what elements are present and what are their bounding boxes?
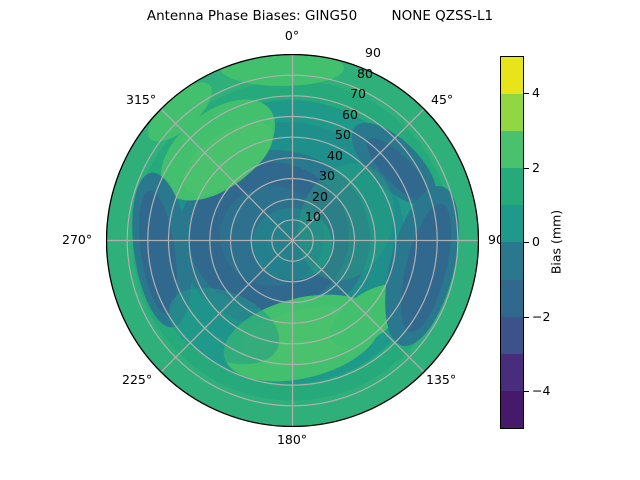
colorbar-ticklabel-0: 0 bbox=[532, 236, 540, 249]
azimuth-label-135: 135° bbox=[426, 374, 456, 387]
colorbar-tick-0 bbox=[524, 242, 529, 243]
radial-label-70: 70 bbox=[350, 88, 366, 101]
colorbar-ticklabel--2: −2 bbox=[532, 311, 550, 324]
colorbar-segment-5 bbox=[501, 57, 523, 94]
colorbar-segment--4 bbox=[501, 391, 523, 428]
azimuth-label-225: 225° bbox=[122, 374, 152, 387]
azimuth-label-315: 315° bbox=[126, 94, 156, 107]
colorbar-tick--2 bbox=[524, 317, 529, 318]
figure-canvas: Antenna Phase Biases: GING50 NONE QZSS-L… bbox=[0, 0, 640, 480]
azimuth-label-45: 45° bbox=[431, 94, 453, 107]
polar-axes: 0° 45° 90 135° 180° 225° 270° 315° 10 20… bbox=[106, 54, 479, 427]
radial-label-30: 30 bbox=[319, 170, 335, 183]
colorbar-ticklabel--4: −4 bbox=[532, 385, 550, 398]
radial-label-20: 20 bbox=[312, 191, 328, 204]
colorbar-segment--1 bbox=[501, 280, 523, 317]
azimuth-label-0: 0° bbox=[285, 30, 299, 43]
colorbar-segment--2 bbox=[501, 317, 523, 354]
colorbar-tick--4 bbox=[524, 391, 529, 392]
radial-label-10: 10 bbox=[305, 211, 321, 224]
colorbar-ticklabel-2: 2 bbox=[532, 162, 540, 175]
azimuth-label-270: 270° bbox=[62, 234, 92, 247]
colorbar bbox=[500, 56, 524, 429]
page-title: Antenna Phase Biases: GING50 NONE QZSS-L… bbox=[0, 8, 640, 24]
colorbar-tick-2 bbox=[524, 168, 529, 169]
colorbar-segment-4 bbox=[501, 94, 523, 131]
colorbar-ticklabel-4: 4 bbox=[532, 87, 540, 100]
colorbar-segment--3 bbox=[501, 354, 523, 391]
colorbar-segment-0 bbox=[501, 242, 523, 279]
radial-label-90: 90 bbox=[365, 47, 381, 60]
colorbar-tick-4 bbox=[524, 93, 529, 94]
polar-plot-svg bbox=[106, 54, 479, 427]
azimuth-label-180: 180° bbox=[277, 434, 307, 447]
radial-label-60: 60 bbox=[342, 109, 358, 122]
colorbar-segment-1 bbox=[501, 205, 523, 242]
radial-label-80: 80 bbox=[357, 68, 373, 81]
polar-grid bbox=[107, 55, 479, 427]
radial-label-40: 40 bbox=[327, 150, 343, 163]
radial-label-50: 50 bbox=[335, 129, 351, 142]
colorbar-segment-2 bbox=[501, 168, 523, 205]
colorbar-segment-3 bbox=[501, 131, 523, 168]
colorbar-axis-label: Bias (mm) bbox=[549, 210, 564, 274]
